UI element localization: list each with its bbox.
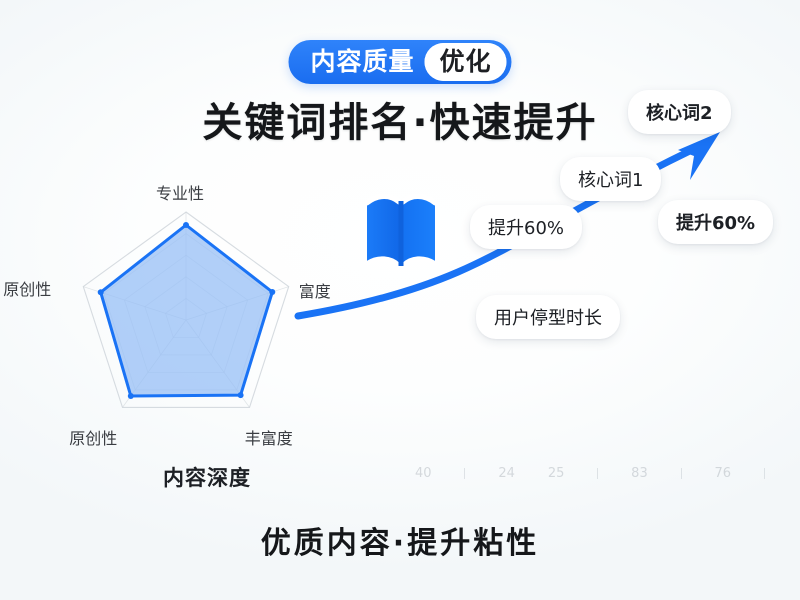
tick-value: 25 bbox=[548, 466, 565, 481]
label-keyword-1: 核心词1 bbox=[560, 157, 661, 201]
radar-label-top: 专业性 bbox=[156, 180, 204, 204]
radar-data-area bbox=[101, 225, 273, 396]
tick-value: 24 bbox=[498, 466, 515, 481]
tick-mark bbox=[597, 468, 598, 479]
tick-value: 76 bbox=[715, 466, 732, 481]
poster-canvas: 内容质量 优化 关键词排名·快速提升 专业性 富度 丰富度 原创性 原创性 bbox=[0, 0, 800, 600]
badge-tag-label: 优化 bbox=[425, 43, 507, 81]
badge-main-label: 内容质量 bbox=[288, 40, 424, 84]
page-tagline: 优质内容·提升粘性 bbox=[0, 518, 800, 562]
radar-label-bottom-right: 丰富度 bbox=[245, 425, 293, 449]
label-uplift-right: 提升60% bbox=[658, 200, 773, 244]
content-quality-badge[interactable]: 内容质量 优化 bbox=[288, 40, 511, 84]
radar-label-bottom-left: 原创性 bbox=[69, 425, 117, 449]
tick-value: 83 bbox=[631, 466, 648, 481]
label-keyword-2: 核心词2 bbox=[628, 90, 731, 134]
tick-mark bbox=[764, 468, 765, 479]
tick-value: 40 bbox=[415, 466, 432, 481]
tick-scale: 4024258376 bbox=[415, 466, 765, 481]
content-depth-caption: 内容深度 bbox=[163, 462, 251, 492]
radar-label-left: 原创性 bbox=[3, 276, 51, 300]
label-dwell-time: 用户停型时长 bbox=[476, 295, 620, 339]
tick-mark bbox=[464, 468, 465, 479]
tick-mark bbox=[681, 468, 682, 479]
label-uplift-left: 提升60% bbox=[470, 205, 582, 249]
